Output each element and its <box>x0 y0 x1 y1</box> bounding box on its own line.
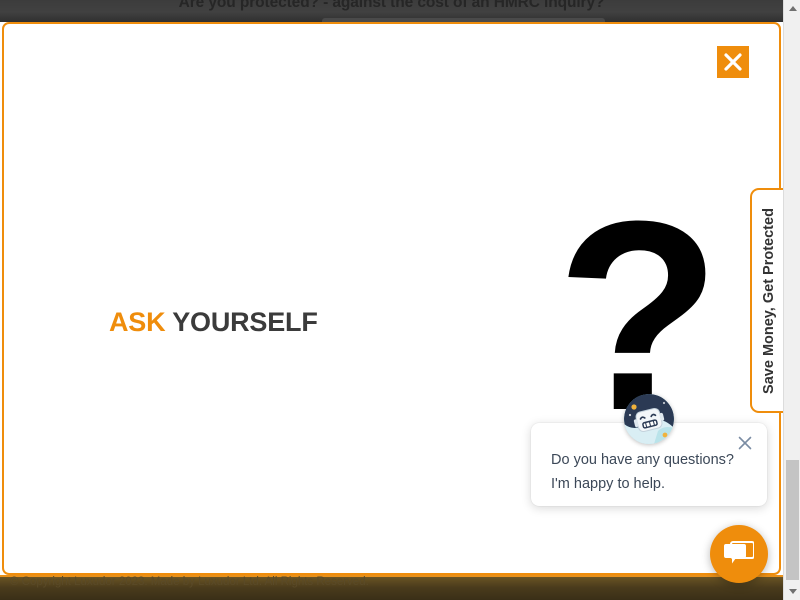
heading-accent-word: ASK <box>109 307 165 337</box>
robot-avatar-icon <box>624 394 674 444</box>
side-tab-save-money[interactable]: Save Money, Get Protected <box>750 188 786 413</box>
question-mark-graphic: ? <box>556 202 696 432</box>
chevron-down-icon <box>789 589 797 594</box>
modal-heading: ASK YOURSELF <box>109 307 318 338</box>
site-header-inner: Are you protected? - against the cost of… <box>0 0 783 22</box>
close-icon[interactable] <box>717 46 749 78</box>
close-chat-x-glyph <box>737 435 753 451</box>
chevron-up-icon <box>789 6 797 11</box>
site-header: Are you protected? - against the cost of… <box>0 0 783 22</box>
footer-copyright: © Copyright Luxudor 2023. Made by Luxudo… <box>10 576 369 588</box>
chat-bubbles-icon <box>724 540 754 568</box>
heading-plain-word: YOURSELF <box>165 307 317 337</box>
side-tab-label: Save Money, Get Protected <box>761 208 777 394</box>
site-headline: Are you protected? - against the cost of… <box>0 0 783 14</box>
close-chat-icon[interactable] <box>733 431 757 455</box>
page-root: Are you protected? - against the cost of… <box>0 0 800 600</box>
scrollbar-thumb[interactable] <box>786 460 799 580</box>
scroll-up-button[interactable] <box>784 0 800 17</box>
scrollbar[interactable] <box>783 0 800 600</box>
chat-message-text: Do you have any questions? I'm happy to … <box>551 448 747 496</box>
chat-avatar <box>624 394 674 444</box>
scroll-down-button[interactable] <box>784 583 800 600</box>
close-x-glyph <box>722 51 744 73</box>
chat-launcher-button[interactable] <box>710 525 768 583</box>
